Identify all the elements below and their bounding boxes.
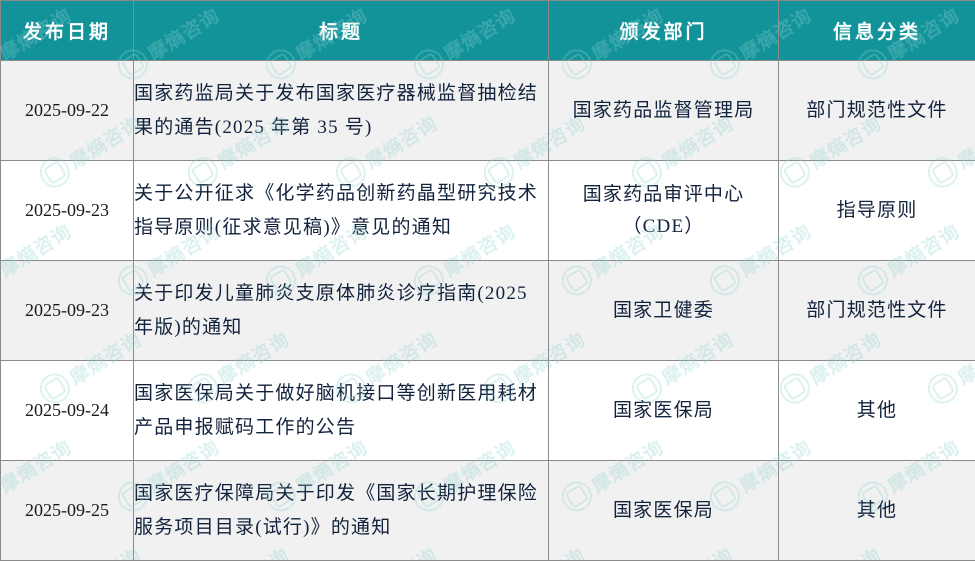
cell-publish-date: 2025-09-22 [1,61,134,161]
column-header-category[interactable]: 信息分类 [779,1,975,61]
cell-document-title[interactable]: 国家药监局关于发布国家医疗器械监督抽检结果的通告(2025 年第 35 号) [134,61,549,161]
cell-information-category: 部门规范性文件 [779,61,975,161]
table-body: 2025-09-22国家药监局关于发布国家医疗器械监督抽检结果的通告(2025 … [1,61,975,561]
column-header-date[interactable]: 发布日期 [1,1,134,61]
cell-publish-date: 2025-09-24 [1,361,134,461]
policy-documents-table: 发布日期 标题 颁发部门 信息分类 2025-09-22国家药监局关于发布国家医… [0,0,975,561]
cell-issuing-department: 国家药品监督管理局 [549,61,779,161]
cell-publish-date: 2025-09-25 [1,461,134,561]
document-table-container: 摩熵咨询摩熵咨询摩熵咨询摩熵咨询摩熵咨询摩熵咨询摩熵咨询摩熵咨询摩熵咨询摩熵咨询… [0,0,975,560]
cell-issuing-department: 国家药品审评中心（CDE） [549,161,779,261]
cell-document-title[interactable]: 关于公开征求《化学药品创新药晶型研究技术指导原则(征求意见稿)》意见的通知 [134,161,549,261]
table-row[interactable]: 2025-09-22国家药监局关于发布国家医疗器械监督抽检结果的通告(2025 … [1,61,975,161]
cell-information-category: 其他 [779,361,975,461]
cell-document-title[interactable]: 国家医保局关于做好脑机接口等创新医用耗材产品申报赋码工作的公告 [134,361,549,461]
table-row[interactable]: 2025-09-25国家医疗保障局关于印发《国家长期护理保险服务项目目录(试行)… [1,461,975,561]
cell-document-title[interactable]: 国家医疗保障局关于印发《国家长期护理保险服务项目目录(试行)》的通知 [134,461,549,561]
table-row[interactable]: 2025-09-23关于公开征求《化学药品创新药晶型研究技术指导原则(征求意见稿… [1,161,975,261]
cell-issuing-department: 国家医保局 [549,361,779,461]
cell-publish-date: 2025-09-23 [1,261,134,361]
table-row[interactable]: 2025-09-24国家医保局关于做好脑机接口等创新医用耗材产品申报赋码工作的公… [1,361,975,461]
cell-information-category: 其他 [779,461,975,561]
cell-issuing-department: 国家卫健委 [549,261,779,361]
column-header-title[interactable]: 标题 [134,1,549,61]
cell-issuing-department: 国家医保局 [549,461,779,561]
table-header: 发布日期 标题 颁发部门 信息分类 [1,1,975,61]
cell-information-category: 指导原则 [779,161,975,261]
cell-document-title[interactable]: 关于印发儿童肺炎支原体肺炎诊疗指南(2025 年版)的通知 [134,261,549,361]
column-header-dept[interactable]: 颁发部门 [549,1,779,61]
cell-information-category: 部门规范性文件 [779,261,975,361]
cell-publish-date: 2025-09-23 [1,161,134,261]
table-row[interactable]: 2025-09-23关于印发儿童肺炎支原体肺炎诊疗指南(2025 年版)的通知国… [1,261,975,361]
table-header-row: 发布日期 标题 颁发部门 信息分类 [1,1,975,61]
